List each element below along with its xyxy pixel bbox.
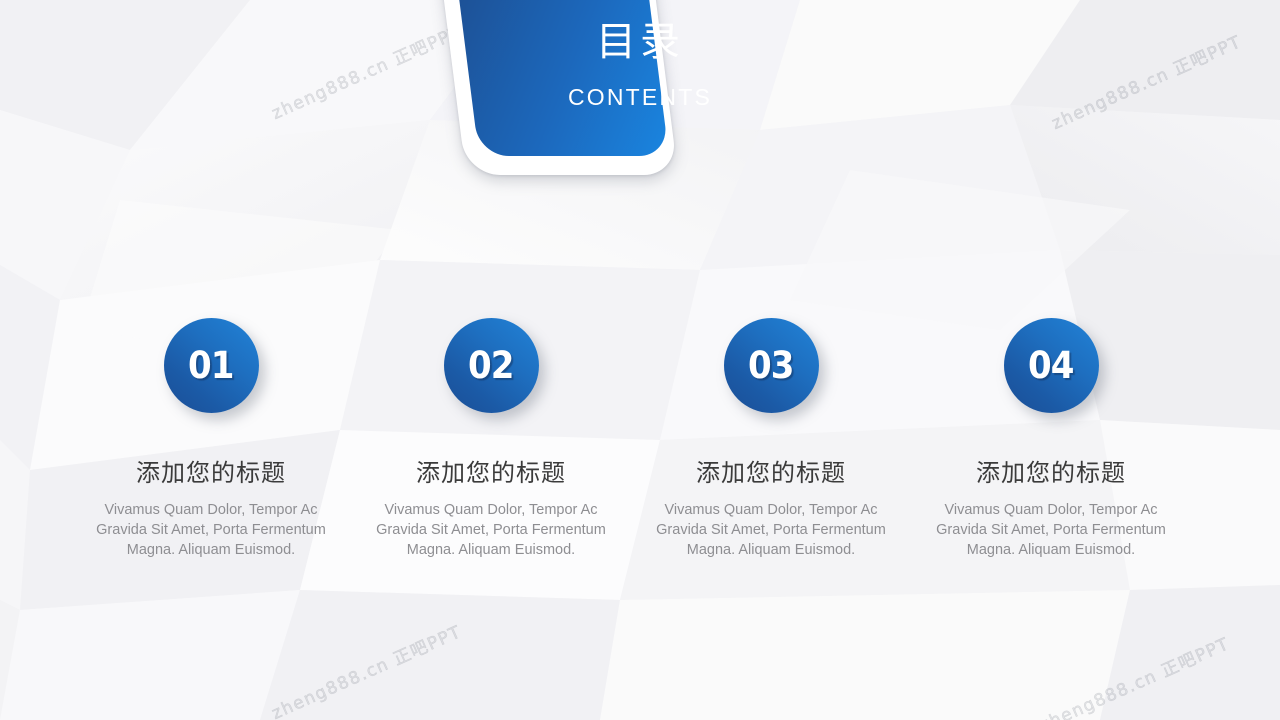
item-description: Vivamus Quam Dolor, Tempor Ac Gravida Si…: [368, 500, 614, 560]
item-description: Vivamus Quam Dolor, Tempor Ac Gravida Si…: [928, 500, 1174, 560]
number-badge-01[interactable]: 01: [164, 318, 259, 413]
number-badge-label: 03: [748, 344, 794, 387]
number-badge-04[interactable]: 04: [1004, 318, 1099, 413]
slide-canvas: zheng888.cn 正吧PPT zheng888.cn 正吧PPT zhen…: [0, 0, 1280, 720]
number-badge-02[interactable]: 02: [444, 318, 539, 413]
item-title: 添加您的标题: [976, 460, 1126, 489]
item-description: Vivamus Quam Dolor, Tempor Ac Gravida Si…: [648, 500, 894, 560]
number-badge-03[interactable]: 03: [724, 318, 819, 413]
item-description: Vivamus Quam Dolor, Tempor Ac Gravida Si…: [88, 500, 334, 560]
contents-row: 01 添加您的标题 Vivamus Quam Dolor, Tempor Ac …: [0, 318, 1280, 560]
number-badge-label: 01: [188, 344, 234, 387]
content-item-01[interactable]: 01 添加您的标题 Vivamus Quam Dolor, Tempor Ac …: [71, 318, 351, 560]
item-title: 添加您的标题: [696, 460, 846, 489]
content-item-04[interactable]: 04 添加您的标题 Vivamus Quam Dolor, Tempor Ac …: [911, 318, 1191, 560]
item-title: 添加您的标题: [136, 460, 286, 489]
number-badge-label: 04: [1028, 344, 1074, 387]
number-badge-label: 02: [468, 344, 514, 387]
content-item-02[interactable]: 02 添加您的标题 Vivamus Quam Dolor, Tempor Ac …: [351, 318, 631, 560]
content-item-03[interactable]: 03 添加您的标题 Vivamus Quam Dolor, Tempor Ac …: [631, 318, 911, 560]
item-title: 添加您的标题: [416, 460, 566, 489]
